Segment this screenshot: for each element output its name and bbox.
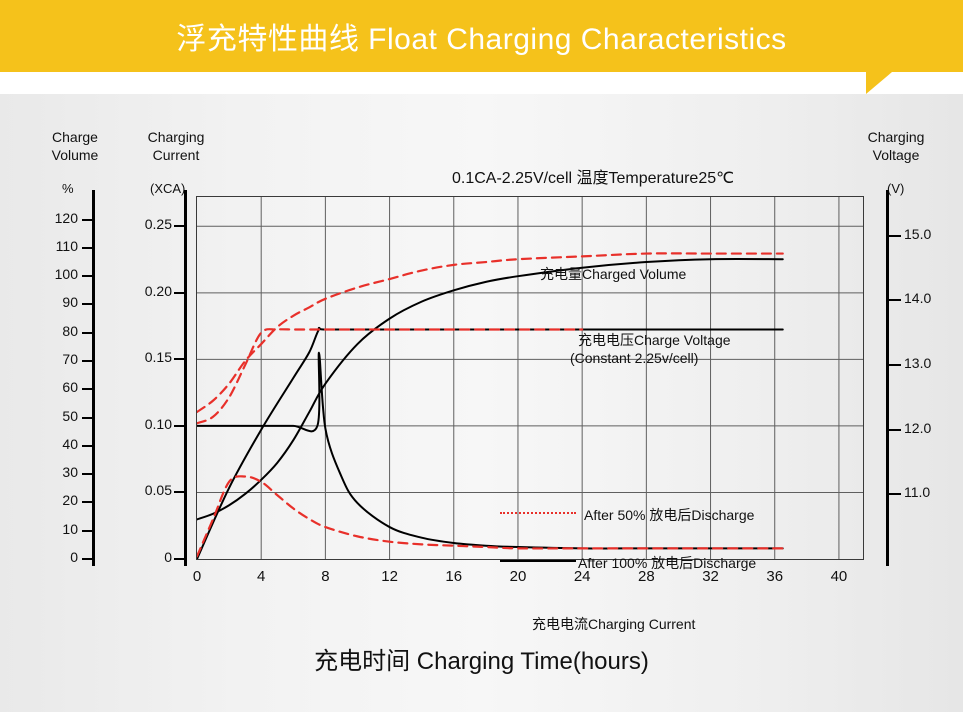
legend-solid-line-swatch	[500, 560, 576, 562]
axis-ticklabel: 100	[38, 266, 78, 282]
x-axis-ticklabel: 0	[182, 568, 212, 585]
chart-condition-label: 0.1CA-2.25V/cell 温度Temperature25℃	[452, 164, 734, 188]
x-axis-ticklabel: 16	[439, 568, 469, 585]
axis-tick	[82, 558, 94, 560]
x-axis-ticklabel: 4	[246, 568, 276, 585]
left-outer-axis-title: Charge Volume	[40, 128, 110, 164]
axis-ticklabel: 10	[38, 521, 78, 537]
axis-tick	[82, 417, 94, 419]
axis-ticklabel: 20	[38, 492, 78, 508]
plot-area	[196, 196, 864, 560]
annotation-charge-voltage-sub: (Constant 2.25v/cell)	[570, 350, 698, 366]
axis-tick	[174, 491, 186, 493]
axis-ticklabel: 80	[38, 323, 78, 339]
axis-tick	[82, 332, 94, 334]
axis-tick	[889, 299, 901, 301]
left-inner-axis-unit: (XCA)	[150, 181, 185, 196]
axis-tick	[82, 473, 94, 475]
axis-tick	[82, 219, 94, 221]
axis-ticklabel: 0.05	[122, 482, 172, 498]
right-axis-title: Charging Voltage	[852, 128, 940, 164]
axis-ticklabel: 50	[38, 408, 78, 424]
axis-tick	[174, 292, 186, 294]
axis-ticklabel: 13.0	[904, 355, 950, 371]
left-inner-axis-title: Charging Current	[136, 128, 216, 164]
legend-label-after-100: After 100% 放电后Discharge	[578, 553, 756, 573]
axis-ticklabel: 90	[38, 294, 78, 310]
x-axis-ticklabel: 24	[567, 568, 597, 585]
axis-ticklabel: 0.15	[122, 349, 172, 365]
axis-tick	[174, 425, 186, 427]
annotation-charging-current: 充电电流Charging Current	[532, 614, 695, 634]
banner-tail-decoration	[866, 72, 892, 94]
axis-tick	[889, 364, 901, 366]
x-axis-ticklabel: 12	[375, 568, 405, 585]
x-axis-ticklabel: 36	[760, 568, 790, 585]
axis-ticklabel: 0.25	[122, 216, 172, 232]
annotation-charged-volume: 充电量Charged Volume	[540, 264, 686, 284]
x-axis-ticklabel: 20	[503, 568, 533, 585]
grid-layer	[197, 197, 863, 559]
left-outer-axis-title-line1: Charge	[40, 128, 110, 146]
axis-ticklabel: 40	[38, 436, 78, 452]
axis-ticklabel: 14.0	[904, 290, 950, 306]
axis-tick	[174, 358, 186, 360]
axis-tick	[82, 303, 94, 305]
axis-ticklabel: 110	[38, 238, 78, 254]
x-axis-title: 充电时间 Charging Time(hours)	[0, 641, 963, 676]
page-title: 浮充特性曲线 Float Charging Characteristics	[0, 0, 963, 72]
axis-ticklabel: 0.20	[122, 283, 172, 299]
axis-tick	[82, 501, 94, 503]
right-axis-title-line1: Charging	[852, 128, 940, 146]
x-axis-ticklabel: 28	[631, 568, 661, 585]
legend-dashed-line-swatch	[500, 512, 576, 514]
axis-tick	[889, 235, 901, 237]
axis-ticklabel: 12.0	[904, 420, 950, 436]
axis-ticklabel: 15.0	[904, 226, 950, 242]
axis-tick	[174, 225, 186, 227]
axis-ticklabel: 0.10	[122, 416, 172, 432]
axis-ticklabel: 0	[122, 549, 172, 565]
annotation-charge-voltage: 充电电压Charge Voltage	[578, 330, 731, 350]
axis-tick	[82, 275, 94, 277]
chart-svg	[197, 197, 863, 559]
series-charged-volume-after-100-discharge	[197, 259, 783, 519]
axis-tick	[82, 445, 94, 447]
right-axis-spine	[886, 190, 889, 566]
axis-tick	[889, 429, 901, 431]
x-axis-ticklabel: 40	[824, 568, 854, 585]
right-axis-unit: (V)	[887, 181, 904, 196]
left-inner-axis-title-line1: Charging	[136, 128, 216, 146]
x-axis-ticklabel: 32	[696, 568, 726, 585]
left-outer-axis-unit: %	[62, 181, 74, 196]
x-axis-ticklabel: 8	[310, 568, 340, 585]
axis-ticklabel: 11.0	[904, 484, 950, 500]
axis-ticklabel: 60	[38, 379, 78, 395]
axis-tick	[82, 360, 94, 362]
axis-tick	[174, 558, 186, 560]
axis-ticklabel: 70	[38, 351, 78, 367]
axis-ticklabel: 0	[38, 549, 78, 565]
left-outer-axis-title-line2: Volume	[40, 146, 110, 164]
axis-tick	[82, 530, 94, 532]
axis-tick	[889, 493, 901, 495]
axis-ticklabel: 30	[38, 464, 78, 480]
right-axis-title-line2: Voltage	[852, 146, 940, 164]
chart-panel: Charge Volume % Charging Current (XCA) C…	[0, 94, 963, 712]
legend-label-after-50: After 50% 放电后Discharge	[584, 505, 754, 525]
axis-ticklabel: 120	[38, 210, 78, 226]
axis-tick	[82, 247, 94, 249]
axis-tick	[82, 388, 94, 390]
left-inner-axis-spine	[184, 190, 187, 566]
left-inner-axis-title-line2: Current	[136, 146, 216, 164]
